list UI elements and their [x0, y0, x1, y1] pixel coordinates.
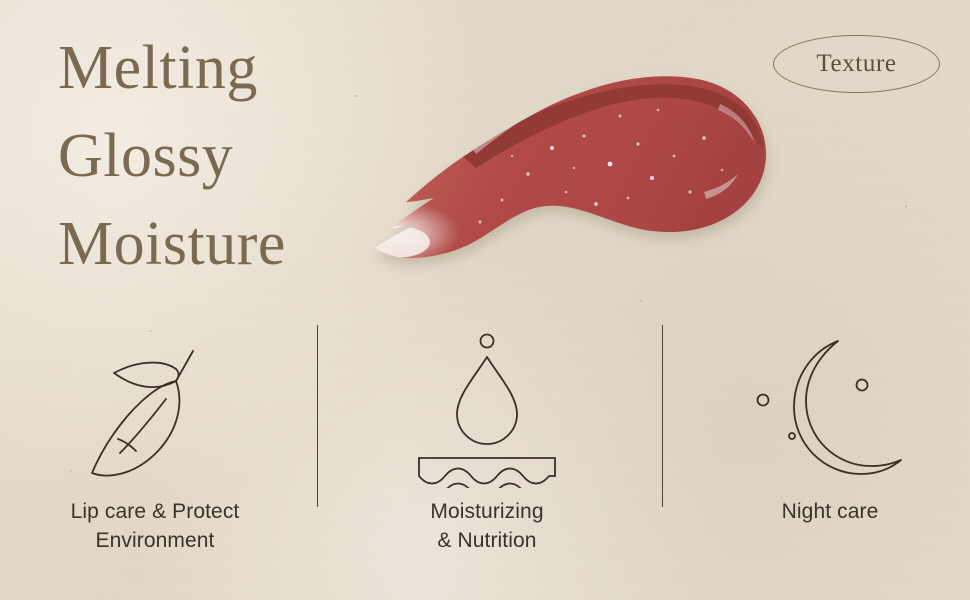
- feature-item-lip-care: Lip care & Protect Environment: [0, 318, 310, 578]
- headline-line-1: Melting: [58, 24, 398, 112]
- feature-label-line: & Nutrition: [430, 527, 543, 556]
- swatch-tail-white: [362, 226, 430, 258]
- feature-label-line: Moisturizing: [430, 498, 543, 527]
- paper-speck: [905, 205, 907, 208]
- leaf-icon: [80, 318, 230, 498]
- headline-line-3: Moisture: [58, 200, 398, 288]
- water-drop-waves-icon: [407, 318, 567, 498]
- feature-label-line: Environment: [71, 527, 240, 556]
- feature-item-moisturizing: Moisturizing & Nutrition: [332, 318, 642, 578]
- feature-item-night-care: Night care: [675, 318, 970, 578]
- feature-label-night-care: Night care: [782, 498, 879, 527]
- crescent-moon-stars-icon: [750, 318, 910, 498]
- lipstick-swatch-image: [352, 52, 772, 277]
- feature-divider: [662, 325, 663, 507]
- texture-badge: Texture: [773, 35, 940, 93]
- feature-label-moisturizing: Moisturizing & Nutrition: [430, 498, 543, 556]
- product-banner: Melting Glossy Moisture Texture: [0, 0, 970, 600]
- paper-speck: [640, 300, 642, 302]
- texture-badge-label: Texture: [816, 50, 896, 78]
- feature-label-line: Night care: [782, 498, 879, 527]
- page-title: Melting Glossy Moisture: [58, 24, 398, 288]
- feature-row: Lip care & Protect Environment Moisturiz…: [0, 318, 970, 578]
- feature-divider: [317, 325, 318, 507]
- feature-label-line: Lip care & Protect: [71, 498, 240, 527]
- feature-label-lip-care: Lip care & Protect Environment: [71, 498, 240, 556]
- headline-line-2: Glossy: [58, 112, 398, 200]
